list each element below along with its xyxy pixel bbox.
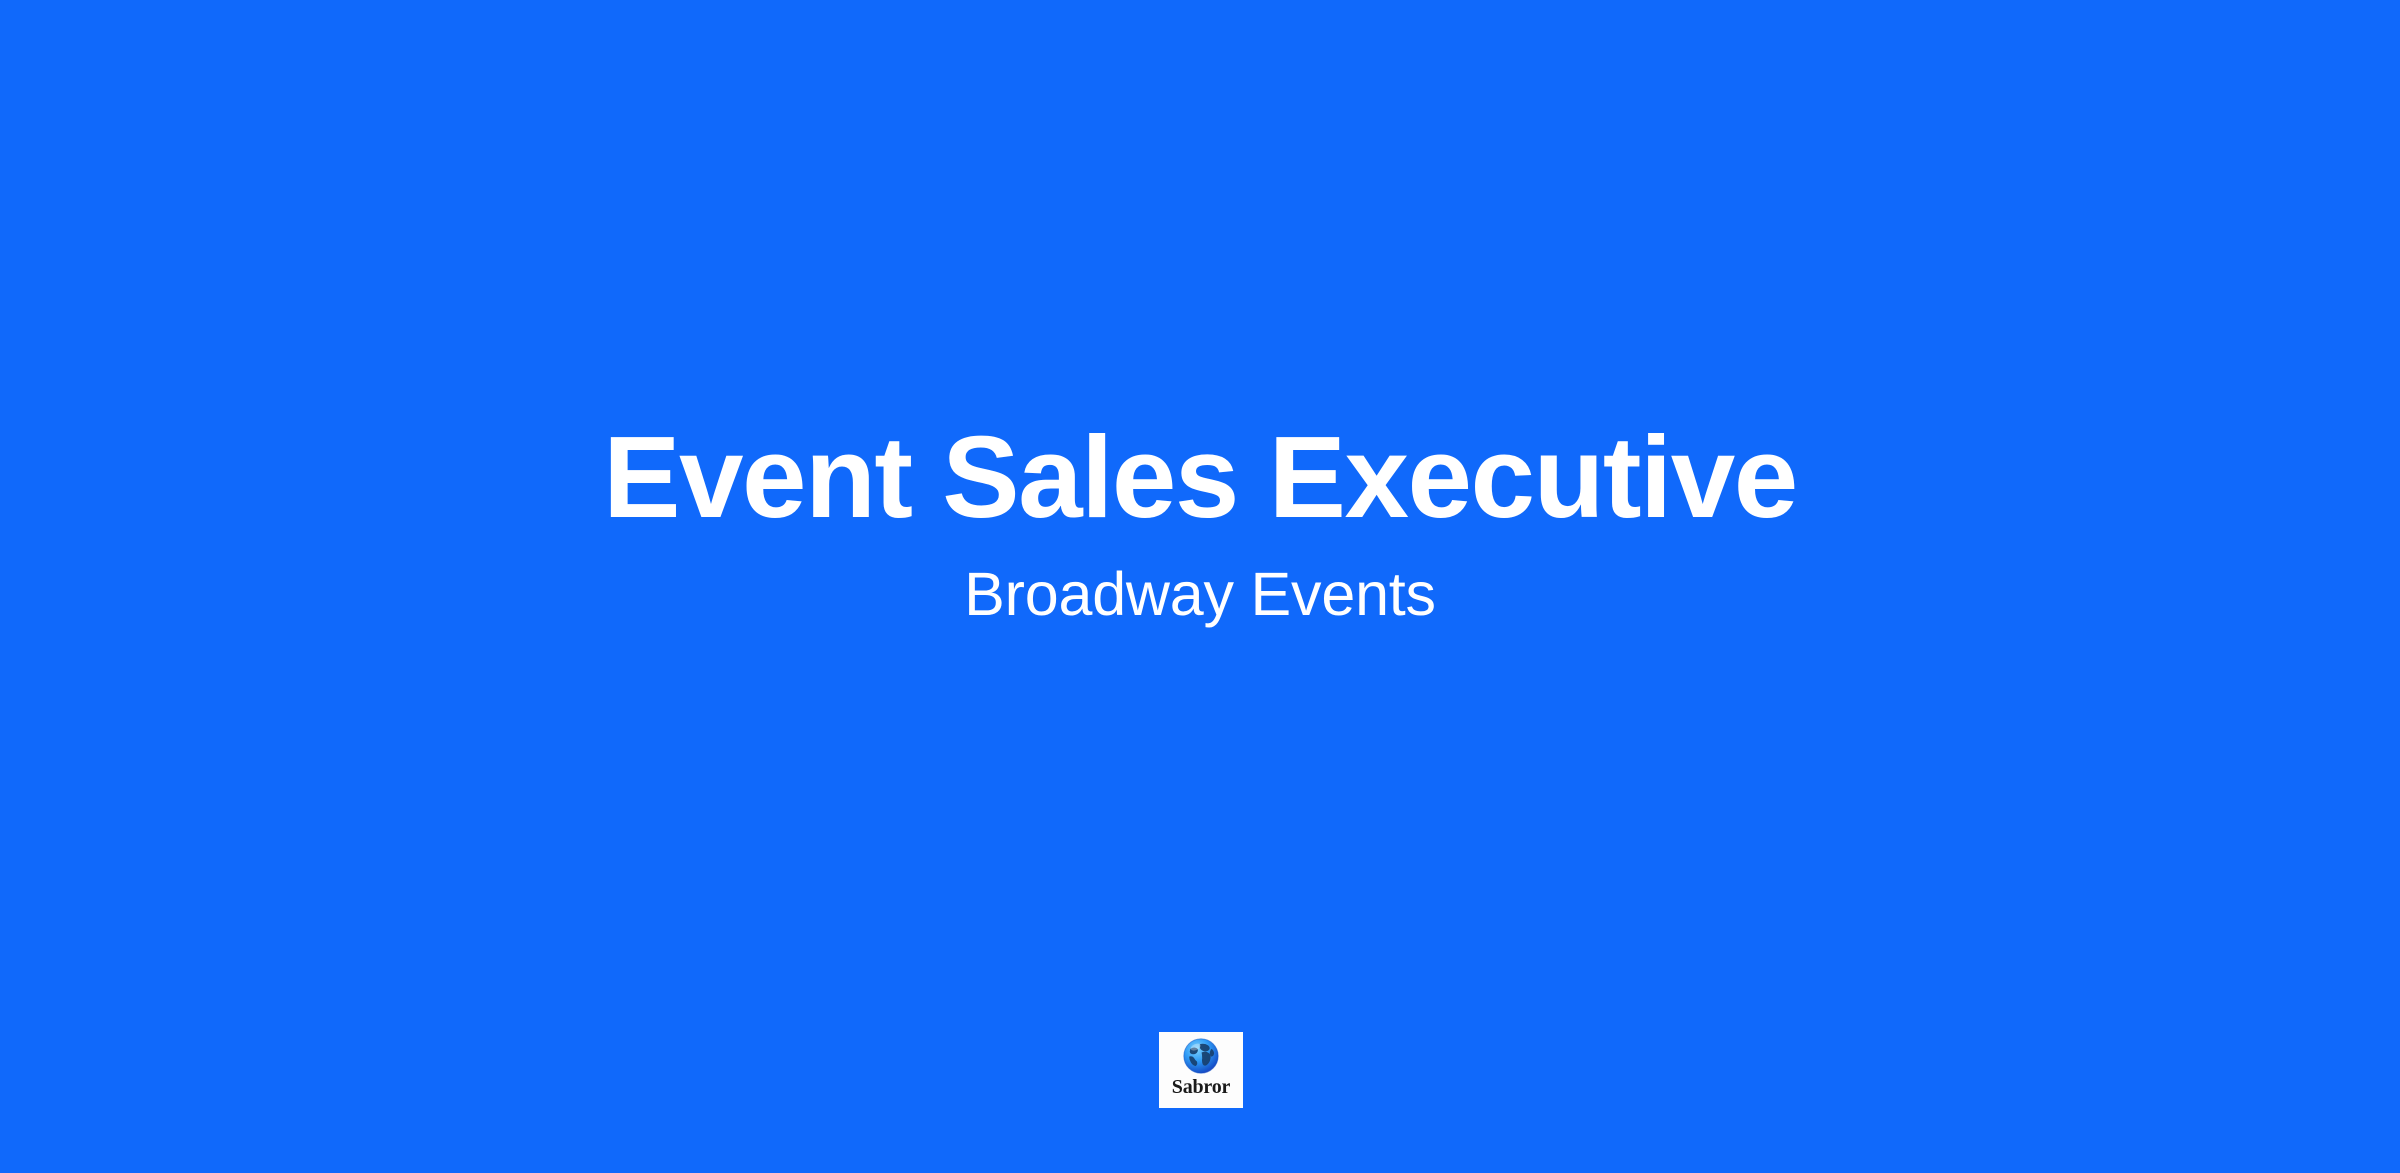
hero-block: Event Sales Executive Broadway Events [0, 0, 2400, 1173]
page-title: Event Sales Executive [603, 416, 1797, 539]
company-subtitle: Broadway Events [964, 561, 1436, 628]
globe-icon [1182, 1037, 1220, 1075]
brand-wordmark: Sabror [1172, 1077, 1230, 1097]
brand-logo: Sabror [1159, 1032, 1243, 1108]
slide-canvas: Event Sales Executive Broadway Events [0, 0, 2400, 1173]
